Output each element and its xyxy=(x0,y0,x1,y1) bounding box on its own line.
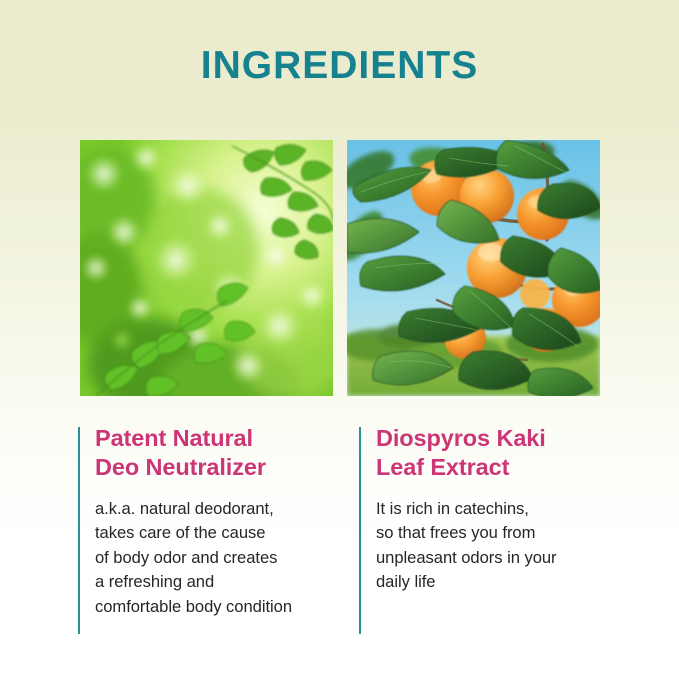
accent-rule-left xyxy=(78,427,80,634)
desc-line: It is rich in catechins, xyxy=(376,499,529,518)
desc-line: of body odor and creates xyxy=(95,548,277,567)
desc-line: takes care of the cause xyxy=(95,523,265,542)
ingredient-column-left: Patent Natural Deo Neutralizer a.k.a. na… xyxy=(78,424,350,619)
ingredient-text-right: Diospyros Kaki Leaf Extract It is rich i… xyxy=(376,424,609,595)
ingredients-page: INGREDIENTS xyxy=(0,0,679,679)
persimmon-tree-illustration xyxy=(347,140,600,396)
desc-line: so that frees you from xyxy=(376,523,535,542)
ingredient-column-right: Diospyros Kaki Leaf Extract It is rich i… xyxy=(359,424,609,595)
ingredient-heading-left-line1: Patent Natural xyxy=(95,425,253,451)
ingredient-heading-right: Diospyros Kaki Leaf Extract xyxy=(376,424,609,483)
ingredient-description-left: a.k.a. natural deodorant, takes care of … xyxy=(95,497,350,620)
ingredient-heading-left-line2: Deo Neutralizer xyxy=(95,454,266,480)
desc-line: a refreshing and xyxy=(95,572,214,591)
ingredient-heading-right-line1: Diospyros Kaki xyxy=(376,425,546,451)
ingredient-heading-left: Patent Natural Deo Neutralizer xyxy=(95,424,350,483)
ingredient-heading-right-line2: Leaf Extract xyxy=(376,454,509,480)
green-foliage-illustration xyxy=(80,140,333,396)
page-title: INGREDIENTS xyxy=(0,46,679,85)
desc-line: comfortable body condition xyxy=(95,597,292,616)
desc-line: daily life xyxy=(376,572,435,591)
desc-line: unpleasant odors in your xyxy=(376,548,557,567)
green-foliage-photo xyxy=(80,140,333,396)
ingredient-description-right: It is rich in catechins, so that frees y… xyxy=(376,497,609,595)
persimmon-tree-photo xyxy=(347,140,600,396)
ingredient-text-left: Patent Natural Deo Neutralizer a.k.a. na… xyxy=(95,424,350,619)
desc-line: a.k.a. natural deodorant, xyxy=(95,499,274,518)
accent-rule-right xyxy=(359,427,361,634)
